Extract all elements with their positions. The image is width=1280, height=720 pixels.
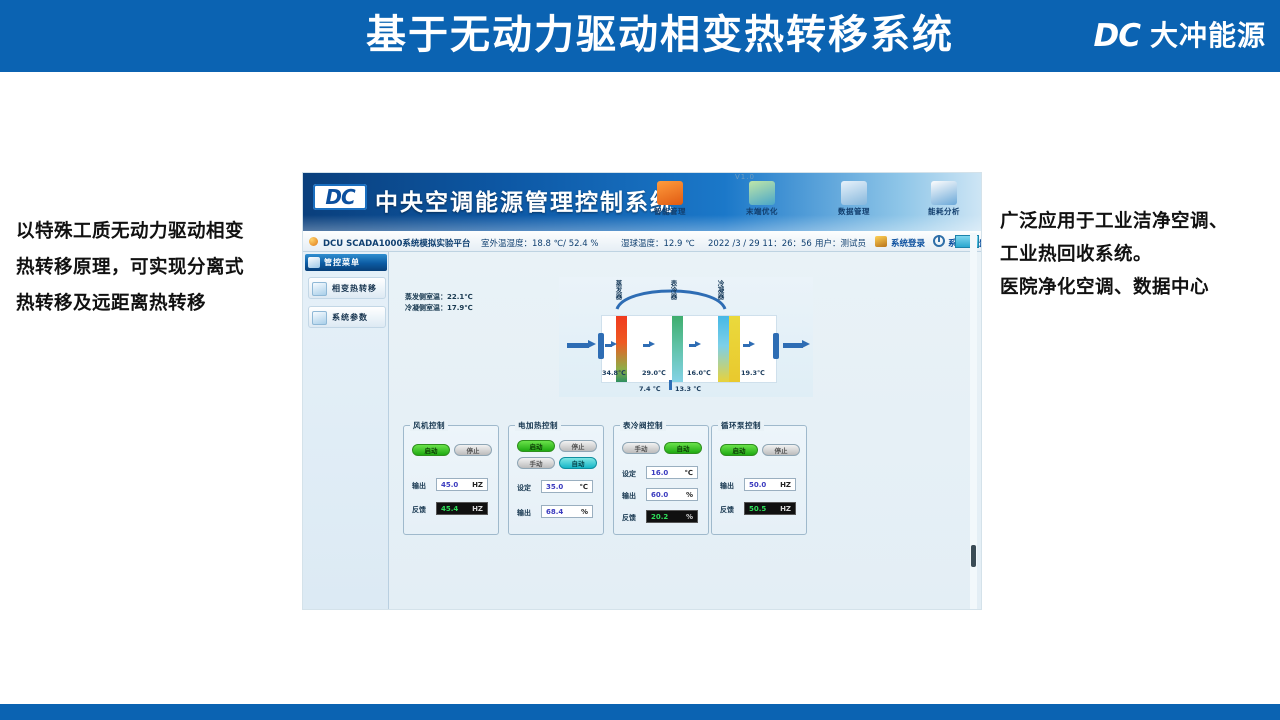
toolbar-label: 数据管理 — [817, 206, 891, 217]
data-folder-icon — [841, 181, 867, 205]
heater-output-field[interactable]: 68.4 % — [541, 505, 593, 518]
outdoor-temp-humidity: 室外温湿度：18.8 ℃/ 52.4 % — [481, 237, 598, 249]
status-indicator-icon — [309, 237, 318, 246]
field-value: 68.4 — [546, 506, 563, 519]
current-user: 用户：测试员 — [815, 237, 866, 249]
valve-manual-button[interactable]: 手动 — [622, 442, 660, 454]
bottom-temp-2: 13.3 ℃ — [675, 385, 701, 393]
field-unit: ℃ — [685, 467, 693, 480]
scada-title: 中央空调能源管理控制系统 — [375, 183, 675, 217]
brand-name: 大冲能源 — [1150, 22, 1266, 50]
flow-arrow-1-icon — [611, 341, 617, 347]
left-line-2: 热转移原理，可实现分离式 — [16, 250, 286, 286]
label-evaporator: 蒸发器 — [614, 280, 622, 300]
toolbar-label: 智能管理 — [633, 206, 707, 217]
inlet-gate — [598, 333, 604, 359]
pump-output-field[interactable]: 50.0 HZ — [744, 478, 796, 491]
module-icon — [312, 282, 327, 296]
sidebar-item-label: 相变热转移 — [332, 284, 377, 293]
field-value: 50.5 — [749, 503, 766, 516]
sidebar-header-label: 管控菜单 — [324, 258, 360, 267]
stage-temp-3: 16.0℃ — [687, 369, 711, 377]
fan-output-label: 输出 — [412, 481, 426, 491]
toolbar-item-data-management[interactable]: 数据管理 — [817, 179, 891, 217]
panel-fan-control: 风机控制 启动 停止 输出 45.0 HZ 反馈 45.4 HZ — [403, 425, 499, 535]
panel-title: 电加热控制 — [515, 420, 561, 431]
field-unit: % — [686, 489, 693, 502]
user-login-icon — [875, 236, 887, 247]
menu-icon — [308, 257, 320, 268]
scada-header: DC 中央空调能源管理控制系统 V1.0 智能管理 末端优化 数据管理 能耗分析 — [303, 173, 982, 231]
platform-name: DCU SCADA1000系统模拟实验平台 — [323, 237, 470, 249]
right-line-1: 广泛应用于工业洁净空调、 — [1000, 205, 1276, 238]
wet-bulb-temp: 湿球温度：12.9 ℃ — [621, 237, 695, 249]
field-unit: HZ — [780, 503, 791, 516]
flow-arrow-2-icon — [649, 341, 655, 347]
system-datetime: 2022 /3 / 29 11：26：56 — [708, 237, 812, 249]
field-value: 35.0 — [546, 481, 563, 494]
outlet-arrow-head-icon — [802, 340, 810, 348]
condenser-coil — [718, 316, 729, 382]
toolbar-item-terminal-optimize[interactable]: 末端优化 — [725, 179, 799, 217]
surface-cooler-coil — [672, 316, 683, 382]
valve-feedback-label: 反馈 — [622, 513, 636, 523]
pump-feedback-label: 反馈 — [720, 505, 734, 515]
heater-setpoint-field[interactable]: 35.0 ℃ — [541, 480, 593, 493]
field-unit: % — [581, 506, 588, 519]
scada-main-canvas: 蒸发侧室温：22.1℃ 冷凝侧室温：17.9℃ 蒸发器 表冷器 冷凝器 — [389, 252, 982, 610]
stage-temp-1: 34.8℃ — [602, 369, 626, 377]
scada-screenshot: DC 中央空调能源管理控制系统 V1.0 智能管理 末端优化 数据管理 能耗分析 — [302, 172, 982, 610]
optimize-icon — [749, 181, 775, 205]
home-icon — [657, 181, 683, 205]
field-value: 45.0 — [441, 479, 458, 492]
field-value: 20.2 — [651, 511, 668, 524]
valve-feedback-field: 20.2 % — [646, 510, 698, 523]
sidebar-header: 管控菜单 — [305, 254, 387, 271]
field-unit: ℃ — [580, 481, 588, 494]
outlet-gate — [773, 333, 779, 359]
power-icon — [933, 235, 945, 247]
right-line-3: 医院净化空调、数据中心 — [1000, 271, 1276, 304]
fan-feedback-label: 反馈 — [412, 505, 426, 515]
field-unit: % — [686, 511, 693, 524]
flow-arrow-4-icon — [749, 341, 755, 347]
panel-circulation-pump-control: 循环泵控制 启动 停止 输出 50.0 HZ 反馈 50.5 HZ — [711, 425, 807, 535]
valve-output-field[interactable]: 60.0 % — [646, 488, 698, 501]
valve-output-label: 输出 — [622, 491, 636, 501]
scada-toolbar: 智能管理 末端优化 数据管理 能耗分析 — [633, 179, 981, 229]
heater-stop-button[interactable]: 停止 — [559, 440, 597, 452]
scada-status-bar: DCU SCADA1000系统模拟实验平台 室外温湿度：18.8 ℃/ 52.4… — [303, 231, 982, 252]
sidebar-item-system-parameters[interactable]: 系统参数 — [308, 306, 386, 328]
left-line-3: 热转移及远距离热转移 — [16, 286, 286, 322]
right-description: 广泛应用于工业洁净空调、 工业热回收系统。 医院净化空调、数据中心 — [1000, 205, 1276, 304]
fan-stop-button[interactable]: 停止 — [454, 444, 492, 456]
toolbar-item-smart-management[interactable]: 智能管理 — [633, 179, 707, 217]
fan-output-field[interactable]: 45.0 HZ — [436, 478, 488, 491]
field-value: 16.0 — [651, 467, 668, 480]
heater-output-label: 输出 — [517, 508, 531, 518]
left-line-1: 以特殊工质无动力驱动相变 — [16, 214, 286, 250]
sidebar-item-phase-change-heat-transfer[interactable]: 相变热转移 — [308, 277, 386, 299]
condenser-coil-b — [729, 316, 740, 382]
heater-manual-button[interactable]: 手动 — [517, 457, 555, 469]
panel-electric-heater-control: 电加热控制 启动 停止 手动 自动 设定 35.0 ℃ 输出 68.4 % — [508, 425, 604, 535]
flow-arrow-3-icon — [695, 341, 701, 347]
pump-stop-button[interactable]: 停止 — [762, 444, 800, 456]
pump-output-label: 输出 — [720, 481, 734, 491]
module-icon — [312, 311, 327, 325]
pump-feedback-field: 50.5 HZ — [744, 502, 796, 515]
analysis-icon — [931, 181, 957, 205]
room-temperature-readouts: 蒸发侧室温：22.1℃ 冷凝侧室温：17.9℃ — [405, 292, 473, 314]
sidebar-item-label: 系统参数 — [332, 313, 368, 322]
evaporator-room-temp: 蒸发侧室温：22.1℃ — [405, 292, 473, 303]
brand-mark-icon: DC — [1094, 21, 1140, 52]
fan-start-button[interactable]: 启动 — [412, 444, 450, 456]
left-description: 以特殊工质无动力驱动相变 热转移原理，可实现分离式 热转移及远距离热转移 — [16, 214, 286, 322]
pump-start-button[interactable]: 启动 — [720, 444, 758, 456]
inlet-arrow-bar — [567, 343, 589, 348]
heat-transfer-diagram: 蒸发器 表冷器 冷凝器 34.8℃ 29.0℃ 16.0℃ 19.3℃ — [559, 277, 813, 397]
right-line-2: 工业热回收系统。 — [1000, 238, 1276, 271]
system-login-button[interactable]: 系统登录 — [891, 237, 925, 249]
toolbar-item-energy-analysis[interactable]: 能耗分析 — [907, 179, 981, 217]
heater-setpoint-label: 设定 — [517, 483, 531, 493]
label-condenser: 冷凝器 — [716, 280, 724, 300]
fan-feedback-field: 45.4 HZ — [436, 502, 488, 515]
valve-setpoint-field[interactable]: 16.0 ℃ — [646, 466, 698, 479]
valve-setpoint-label: 设定 — [622, 469, 636, 479]
inlet-arrow-head-icon — [588, 340, 596, 348]
scada-sidebar: 管控菜单 相变热转移 系统参数 — [303, 252, 389, 610]
bottom-temp-1: 7.4 ℃ — [639, 385, 661, 393]
field-unit: HZ — [472, 503, 483, 516]
panel-title: 表冷阀控制 — [620, 420, 666, 431]
toolbar-label: 能耗分析 — [907, 206, 981, 217]
toolbar-label: 末端优化 — [725, 206, 799, 217]
outlet-arrow-bar — [783, 343, 803, 348]
panel-title: 循环泵控制 — [718, 420, 764, 431]
scada-logo-icon: DC — [313, 184, 367, 210]
slide-header-banner: 基于无动力驱动相变热转移系统 DC 大冲能源 — [0, 0, 1280, 72]
field-value: 50.0 — [749, 479, 766, 492]
panel-cooling-valve-control: 表冷阀控制 手动 自动 设定 16.0 ℃ 输出 60.0 % 反馈 20.2 … — [613, 425, 709, 535]
panel-title: 风机控制 — [410, 420, 448, 431]
drain-arrow-icon — [669, 380, 672, 390]
field-unit: HZ — [780, 479, 791, 492]
valve-auto-button[interactable]: 自动 — [664, 442, 702, 454]
field-value: 45.4 — [441, 503, 458, 516]
brand-logo: DC 大冲能源 — [1094, 14, 1267, 58]
slide-footer-bar — [0, 704, 1280, 720]
stage-temp-2: 29.0℃ — [642, 369, 666, 377]
label-surface-cooler: 表冷器 — [669, 280, 677, 300]
heater-auto-button[interactable]: 自动 — [559, 457, 597, 469]
vertical-scrollbar-thumb[interactable] — [971, 545, 976, 567]
page-title: 基于无动力驱动相变热转移系统 — [330, 6, 990, 66]
stage-temp-4: 19.3℃ — [741, 369, 765, 377]
field-value: 60.0 — [651, 489, 668, 502]
condenser-room-temp: 冷凝侧室温：17.9℃ — [405, 303, 473, 314]
heater-start-button[interactable]: 启动 — [517, 440, 555, 452]
field-unit: HZ — [472, 479, 483, 492]
